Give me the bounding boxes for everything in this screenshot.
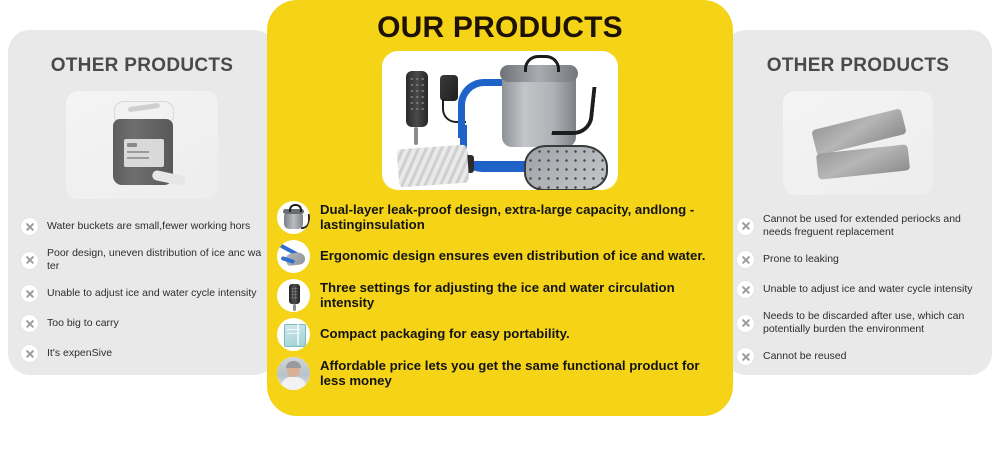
jug-label-shape bbox=[124, 139, 164, 167]
x-mark-icon bbox=[20, 314, 39, 333]
list-item: Compact packaging for easy portability. bbox=[277, 316, 725, 352]
hose-outlet-shape bbox=[468, 161, 528, 168]
feature-text: Compact packaging for easy portability. bbox=[320, 326, 570, 342]
other-products-panel-left: OTHER PRODUCTS Water buckets are small,f… bbox=[8, 30, 276, 375]
power-adapter-shape bbox=[440, 75, 458, 101]
list-item: Cannot be used for extended periocks and… bbox=[736, 213, 978, 239]
therapy-pad-hose-icon bbox=[277, 240, 310, 273]
cooler-handle-shape bbox=[524, 55, 560, 72]
page-title: OUR PRODUCTS bbox=[267, 0, 733, 45]
x-mark-icon bbox=[20, 217, 39, 236]
fabric-sleeve-shape bbox=[397, 145, 469, 188]
x-mark-icon bbox=[736, 347, 755, 366]
remote-controller-icon bbox=[277, 279, 310, 312]
drawback-text: Too big to carry bbox=[47, 317, 119, 330]
list-item: Unable to adjust ice and water cycle int… bbox=[736, 280, 978, 299]
x-mark-icon bbox=[736, 314, 755, 333]
x-mark-icon bbox=[736, 280, 755, 299]
feature-list: Dual-layer leak-proof design, extra-larg… bbox=[267, 199, 733, 391]
list-item: Water buckets are small,fewer working ho… bbox=[20, 217, 262, 236]
drawback-text: Unable to adjust ice and water cycle int… bbox=[47, 287, 257, 300]
package-box-icon bbox=[277, 318, 310, 351]
left-panel-title: OTHER PRODUCTS bbox=[8, 55, 276, 77]
list-item: Cannot be reused bbox=[736, 347, 978, 366]
list-item: Poor design, uneven distribution of ice … bbox=[20, 247, 262, 273]
list-item: Ergonomic design ensures even distributi… bbox=[277, 238, 725, 274]
list-item: Needs to be discarded after use, which c… bbox=[736, 310, 978, 336]
drawback-text: Unable to adjust ice and water cycle int… bbox=[763, 283, 973, 296]
x-mark-icon bbox=[20, 251, 39, 270]
x-mark-icon bbox=[20, 344, 39, 363]
feature-text: Dual-layer leak-proof design, extra-larg… bbox=[320, 202, 725, 233]
drawback-text: Needs to be discarded after use, which c… bbox=[763, 310, 978, 336]
drawback-text: Poor design, uneven distribution of ice … bbox=[47, 247, 262, 273]
x-mark-icon bbox=[20, 284, 39, 303]
right-drawback-list: Cannot be used for extended periocks and… bbox=[724, 213, 992, 366]
list-item: Affordable price lets you get the same f… bbox=[277, 355, 725, 391]
list-item: It's expenSive bbox=[20, 344, 262, 363]
water-bucket-cooler-photo bbox=[66, 91, 218, 199]
drawback-text: Cannot be used for extended periocks and… bbox=[763, 213, 978, 239]
feature-text: Three settings for adjusting the ice and… bbox=[320, 280, 725, 311]
list-item: Unable to adjust ice and water cycle int… bbox=[20, 284, 262, 303]
drawback-text: Prone to leaking bbox=[763, 253, 839, 266]
list-item: Three settings for adjusting the ice and… bbox=[277, 277, 725, 313]
cooler-bag-icon bbox=[277, 201, 310, 234]
gel-ice-packs-photo bbox=[783, 91, 933, 195]
drawback-text: Cannot be reused bbox=[763, 350, 846, 363]
left-drawback-list: Water buckets are small,fewer working ho… bbox=[8, 217, 276, 363]
list-item: Dual-layer leak-proof design, extra-larg… bbox=[277, 199, 725, 235]
happy-customer-icon bbox=[277, 357, 310, 390]
x-mark-icon bbox=[736, 217, 755, 236]
remote-keypad-shape bbox=[409, 76, 425, 110]
feature-text: Ergonomic design ensures even distributi… bbox=[320, 248, 705, 264]
drawback-text: Water buckets are small,fewer working ho… bbox=[47, 220, 250, 233]
feature-text: Affordable price lets you get the same f… bbox=[320, 358, 725, 389]
cooler-strap-shape bbox=[551, 87, 596, 135]
other-products-panel-right: OTHER PRODUCTS Cannot be used for extend… bbox=[724, 30, 992, 375]
our-products-panel: OUR PRODUCTS Dual-layer leak-proof desig… bbox=[267, 0, 733, 416]
list-item: Too big to carry bbox=[20, 314, 262, 333]
list-item: Prone to leaking bbox=[736, 250, 978, 269]
drawback-text: It's expenSive bbox=[47, 347, 112, 360]
therapy-pad-shape bbox=[524, 145, 608, 190]
x-mark-icon bbox=[736, 250, 755, 269]
right-panel-title: OTHER PRODUCTS bbox=[724, 55, 992, 77]
cold-therapy-machine-kit-photo bbox=[382, 51, 618, 190]
